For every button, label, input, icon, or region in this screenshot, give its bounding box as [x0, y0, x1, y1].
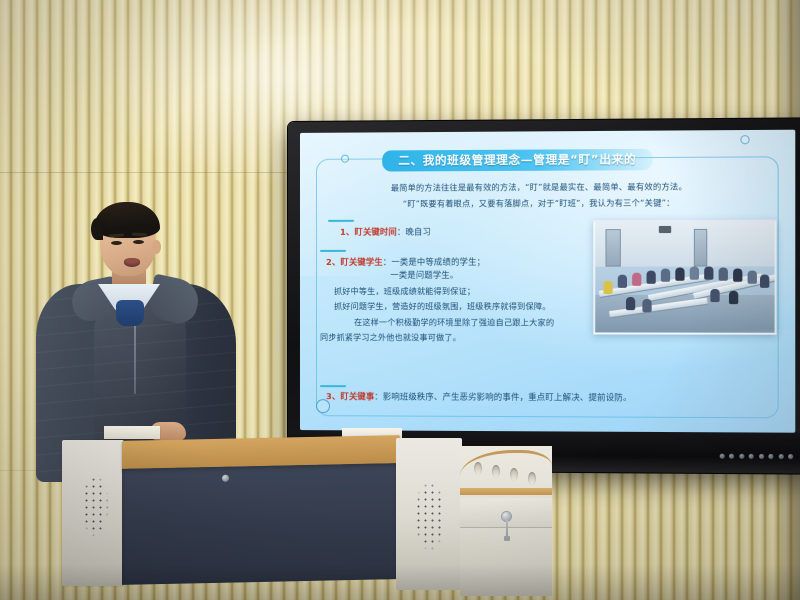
point-number: 2、	[326, 257, 340, 267]
slide-classroom-photo	[593, 220, 776, 335]
cabinet-oval-cutout	[492, 465, 500, 478]
speaker-grille	[408, 468, 452, 564]
point-text: ：影响班级秩序、产生恶劣影响的事件，重点盯上解决、提前设防。	[374, 391, 631, 402]
photo-wall-screen	[659, 226, 671, 233]
slide-body-line-3: 在这样一个积极勤学的环境里除了强迫自己跟上大家的	[354, 317, 554, 328]
slide-lead-line-2: “盯”既要有着眼点，又要有落脚点，对于“盯班”，我认为有三个“关键”：	[300, 197, 781, 209]
podium-lock-icon[interactable]	[222, 475, 229, 482]
display-button[interactable]	[778, 454, 783, 459]
photo-student	[603, 281, 612, 294]
slide-point-2: 2、盯关键学生：一类是中等成绩的学生；	[326, 257, 485, 268]
photo-student	[618, 275, 627, 288]
presenter-inner-shirt	[116, 300, 144, 326]
presentation-slide: 二、我的班级管理理念—管理是“盯”出来的 最简单的方法往往是最有效的方法，“盯”…	[300, 130, 795, 433]
display-button[interactable]	[719, 454, 724, 459]
display-button[interactable]	[729, 454, 734, 459]
podium-paper	[104, 426, 160, 439]
display-button[interactable]	[768, 454, 773, 459]
point-number: 3、	[326, 391, 340, 401]
decorative-circle-icon	[341, 155, 349, 163]
slide-body-line-4: 同步抓紧学习之外他也就没事可做了。	[320, 332, 461, 343]
slide-body-line-1: 抓好中等生，班级成绩就能得到保证；	[334, 286, 475, 297]
photo-door	[605, 229, 620, 267]
photo-student	[642, 299, 651, 312]
display-control-buttons[interactable]	[719, 454, 793, 460]
slide-point-3: 3、盯关键事：影响班级秩序、产生恶劣影响的事件，重点盯上解决、提前设防。	[326, 391, 632, 403]
photo-student	[675, 268, 684, 281]
point-text: ：一类是中等成绩的学生；	[383, 257, 485, 267]
photo-wall	[595, 222, 774, 267]
slide-title-text: 二、我的班级管理理念—管理是“盯”出来的	[382, 149, 653, 172]
slide-title: 二、我的班级管理理念—管理是“盯”出来的	[382, 150, 783, 169]
photo-student	[632, 273, 641, 286]
hanging-keys-icon[interactable]	[506, 520, 508, 540]
photo-student	[647, 271, 656, 284]
podium-front-panel	[122, 463, 397, 585]
photo-student	[704, 267, 713, 280]
decorative-circle-icon	[740, 135, 749, 144]
interactive-flat-panel-display[interactable]: 二、我的班级管理理念—管理是“盯”出来的 最简单的方法往往是最有效的方法，“盯”…	[288, 118, 800, 473]
cabinet-oval-cutout	[474, 462, 482, 475]
point-number: 1、	[340, 227, 354, 237]
section-divider-tick	[328, 220, 354, 222]
photo-student	[729, 291, 738, 304]
display-button[interactable]	[749, 454, 754, 459]
section-divider-tick	[320, 250, 346, 252]
point-keyword: 盯关键学生	[340, 257, 382, 267]
display-button[interactable]	[758, 454, 763, 459]
photo-door	[694, 228, 707, 266]
slide-point-1: 1、盯关键时间：晚自习	[340, 227, 431, 238]
photo-student	[626, 297, 635, 310]
cabinet-wood-shelf	[460, 488, 552, 495]
photo-student	[690, 267, 699, 280]
presenter-mouth	[124, 258, 140, 267]
point-text: ：晚自习	[397, 227, 431, 237]
slide-point-2-continued: 一类是问题学生。	[390, 270, 458, 281]
point-keyword: 盯关键事	[340, 391, 374, 401]
presentation-scene: 二、我的班级管理理念—管理是“盯”出来的 最简单的方法往往是最有效的方法，“盯”…	[0, 0, 800, 600]
podium-left-panel	[62, 440, 124, 586]
podium[interactable]	[62, 424, 550, 600]
speaker-grille	[76, 462, 114, 550]
presenter-hair	[94, 202, 160, 238]
display-button[interactable]	[739, 454, 744, 459]
photo-student	[719, 268, 728, 281]
display-button[interactable]	[788, 454, 793, 459]
slide-lead-line-1: 最简单的方法往往是最有效的方法，“盯”就是最实在、最简单、最有效的方法。	[300, 181, 781, 193]
photo-student	[733, 269, 742, 282]
presenter-ear	[152, 240, 161, 254]
photo-student	[661, 269, 670, 282]
podium-cabinet[interactable]	[460, 446, 552, 596]
slide-body-line-2: 抓好问题学生，营造好的班级氛围，班级秩序就得到保障。	[334, 301, 551, 312]
podium-right-panel	[396, 438, 462, 590]
point-keyword: 盯关键时间	[354, 227, 396, 237]
photo-student	[760, 275, 769, 288]
photo-student	[710, 289, 719, 302]
presenter-eye	[111, 241, 122, 245]
photo-student	[748, 271, 757, 284]
cabinet-oval-cutout	[528, 472, 536, 485]
section-divider-tick	[320, 385, 346, 387]
cabinet-oval-cutout	[510, 468, 518, 481]
presenter-eye	[133, 240, 144, 244]
